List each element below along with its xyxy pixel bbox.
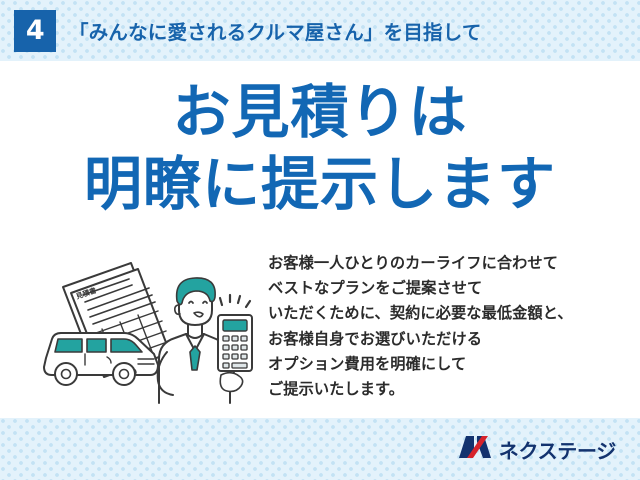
body-copy-line: お客様自身でお選びいただける <box>268 327 634 352</box>
illustration-svg: 見積書 <box>28 253 268 413</box>
brand-name: ネクステージ <box>499 435 616 464</box>
headline-line-2: 明瞭に提示します <box>0 154 640 216</box>
van-icon <box>44 333 158 385</box>
main-content: お見積りは 明瞭に提示します お客様一人ひとりのカーライフに合わせて ベストなプ… <box>0 61 640 418</box>
calculator-icon <box>218 315 252 371</box>
body-copy-line: オプション費用を明確にして <box>268 352 634 377</box>
body-copy-line: いただくために、契約に必要な最低金額と、 <box>268 301 634 326</box>
body-copy-line: お客様一人ひとりのカーライフに合わせて <box>268 251 634 276</box>
footer: ネクステージ <box>0 418 640 480</box>
body-copy: お客様一人ひとりのカーライフに合わせて ベストなプランをご提案させて いただくた… <box>268 251 634 402</box>
body-copy-line: ご提示いたします。 <box>268 377 634 402</box>
sales-staff-illustration: 見積書 <box>28 253 268 413</box>
brand-lockup: ネクステージ <box>458 434 616 465</box>
header-title: 「みんなに愛されるクルマ屋さん」を目指して <box>69 16 482 45</box>
promo-slide: 4 「みんなに愛されるクルマ屋さん」を目指して お見積りは 明瞭に提示します お… <box>0 0 640 480</box>
header: 4 「みんなに愛されるクルマ屋さん」を目指して <box>0 0 640 61</box>
sparkle-icon <box>220 295 250 307</box>
step-number-badge: 4 <box>14 10 56 52</box>
headline-line-1: お見積りは <box>0 82 640 144</box>
body-copy-line: ベストなプランをご提案させて <box>268 276 634 301</box>
nextage-logo-icon <box>458 434 492 465</box>
